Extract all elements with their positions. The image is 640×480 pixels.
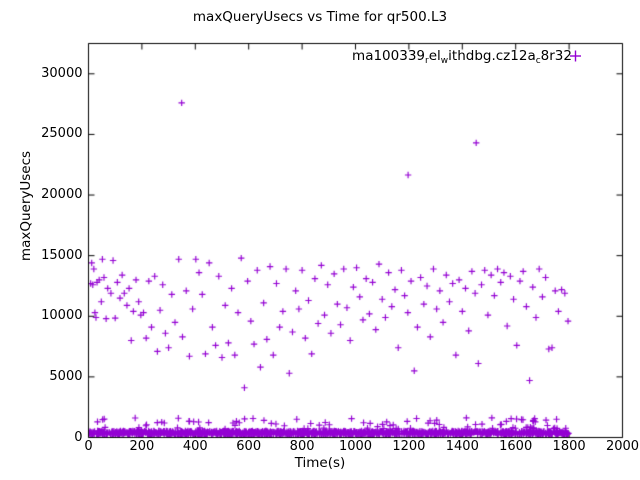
x-axis-label: Time(s) xyxy=(0,455,640,471)
chart-root: maxQueryUsecs vs Time for qr500.L3 maxQu… xyxy=(0,0,640,480)
y-axis-label: maxQueryUsecs xyxy=(18,126,34,286)
legend-key-marker xyxy=(566,48,588,64)
plot-canvas xyxy=(0,0,640,480)
legend-entry-label: ma100339relwithdbg.cz12ac8r32 xyxy=(352,48,572,64)
